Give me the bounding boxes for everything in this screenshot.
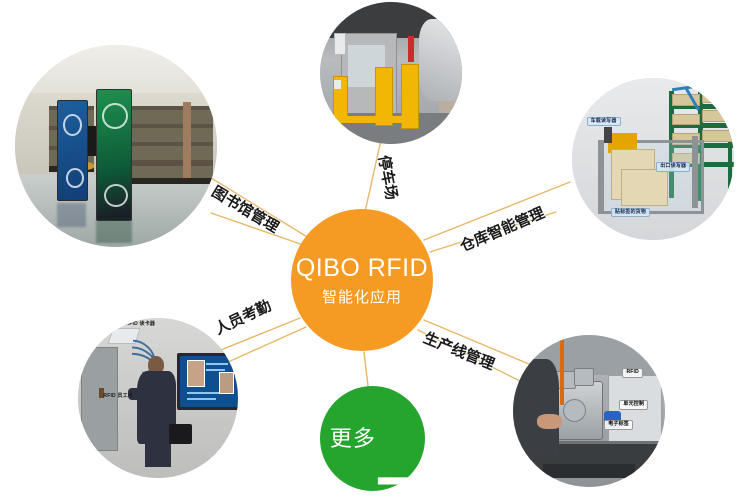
qibo-rfid-hub[interactable]: QIBO RFID 智能化应用 — [291, 209, 433, 351]
library-banner-green — [96, 89, 132, 220]
hub-title: QIBO RFID — [296, 256, 428, 281]
production-photo: RFID 单元控制 电子标签 — [513, 335, 665, 487]
callout-production-1: 单元控制 — [619, 400, 648, 410]
line-attendance-2 — [228, 327, 306, 362]
callout-production-0: RFID — [622, 368, 642, 378]
more-label: 更多 — [330, 428, 376, 450]
library-photo — [15, 45, 217, 247]
spoke-label-parking[interactable]: 停车场 — [376, 154, 399, 201]
callout-warehouse-0: 车载读写器 — [587, 117, 621, 127]
diagram-canvas: 车载读写器 出口读写器 贴标签的货物 UHF RFID 读卡器 — [0, 0, 739, 503]
spoke-label-attendance[interactable]: 人员考勤 — [213, 298, 274, 337]
callout-warehouse-2: 贴标签的货物 — [611, 208, 650, 218]
callout-attendance-1: RFID 员工卡 — [100, 393, 136, 401]
spoke-label-warehouse[interactable]: 仓库智能管理 — [458, 205, 547, 254]
callout-warehouse-1: 出口读写器 — [656, 162, 690, 172]
callout-production-2: 电子标签 — [604, 420, 633, 430]
callout-attendance-0: UHF RFID 读卡器 — [110, 321, 158, 329]
line-more — [364, 352, 368, 386]
hub-subtitle: 智能化应用 — [322, 290, 402, 305]
attendance-photo: UHF RFID 读卡器 RFID 员工卡 — [78, 318, 238, 478]
more-hub[interactable]: 更多 ■■■■■■ — [320, 386, 425, 491]
library-banner-blue — [57, 100, 87, 201]
spoke-label-library[interactable]: 图书馆管理 — [209, 184, 281, 235]
spoke-label-production[interactable]: 生产线管理 — [421, 331, 496, 373]
more-dashes: ■■■■■■ — [378, 473, 415, 487]
warehouse-photo: 车载读写器 出口读写器 贴标签的货物 — [572, 78, 734, 240]
parking-photo — [320, 2, 462, 144]
